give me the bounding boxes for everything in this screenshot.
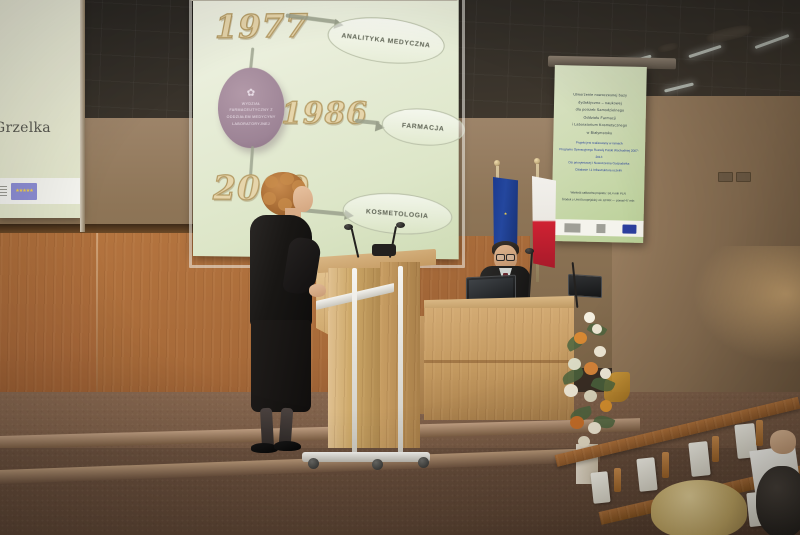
right-slide-logo-bar <box>553 219 647 237</box>
wall-outlet-1 <box>718 172 733 182</box>
wall-light-glow <box>690 246 800 366</box>
institution-logo-icon <box>565 223 581 232</box>
wall-outlet-2 <box>736 172 751 182</box>
flag-finial-poland-icon <box>534 158 540 164</box>
podium-rail-vertical-2 <box>398 266 403 454</box>
right-slide-title-line-6: w Białymstoku <box>558 129 640 138</box>
right-slide-foot-line-2: Środek z Unii Europejskiej: ok. EFRR — p… <box>557 196 639 205</box>
podium-microphone-head-1-icon <box>344 224 353 230</box>
poland-flag <box>532 176 556 268</box>
partner-logo-icon <box>597 223 606 232</box>
glasses-left-icon <box>496 254 505 261</box>
podium-microphone-head-2-icon <box>396 222 405 228</box>
glasses-right-icon <box>506 254 515 261</box>
eu-funds-logo-icon <box>622 224 636 233</box>
right-slide-title: Utworzenie nowoczesnej bazy dydaktyczno … <box>558 91 641 138</box>
speaker-skirt <box>251 320 311 412</box>
podium-caster-left <box>308 458 319 469</box>
floral-arrangement <box>560 312 618 452</box>
projection-screen-left: Grzelka ★★★★★ <box>0 0 80 218</box>
desk-front-panel <box>424 308 574 420</box>
podium-caster-right <box>418 457 429 468</box>
main-screen-frame <box>189 0 465 268</box>
audience-head-dark <box>756 466 800 535</box>
seat-post-4 <box>614 468 621 492</box>
seat-post-2 <box>712 436 719 462</box>
main-screen-roller <box>190 0 458 1</box>
seat-post-3 <box>662 452 669 478</box>
seat-folded-4[interactable] <box>590 471 610 504</box>
seat-post-1 <box>756 420 763 446</box>
audience-hand <box>770 430 796 454</box>
right-slide-footer: Wartość całkowita projektu: 56,4 mln PLN… <box>557 189 639 205</box>
microphone-base-block <box>372 244 396 256</box>
right-slide-subtitle: Projekt jest realizowany w ramach Progra… <box>558 139 641 175</box>
eu-stars-label: ★★★★★ <box>11 183 37 200</box>
lecture-hall-photo: Grzelka ★★★★★ 1977 ANALITYKA MEDYCZNA ✿ … <box>0 0 800 535</box>
left-screen-edge <box>80 0 85 232</box>
seat-folded-3[interactable] <box>636 457 657 492</box>
eu-flag-stars-icon: ★ <box>499 207 512 220</box>
podium-base <box>302 452 430 462</box>
audience-head-blonde <box>651 480 747 535</box>
speaker-hand <box>309 284 326 297</box>
left-slide-name-text: Grzelka <box>0 120 78 136</box>
flag-finial-eu-icon <box>494 160 500 166</box>
podium-rail-vertical <box>352 268 357 454</box>
speaker-shoe-right <box>274 441 301 451</box>
left-slide-logo-text <box>0 186 7 197</box>
left-slide-logo-bar: ★★★★★ <box>0 178 84 204</box>
desk-trim-line <box>424 360 574 363</box>
projection-screen-right: Utworzenie nowoczesnej bazy dydaktyczno … <box>551 65 647 243</box>
podium-caster-mid <box>372 459 383 470</box>
eu-flag-icon: ★★★★★ <box>11 183 37 200</box>
desk-microphone-head-icon <box>525 248 534 254</box>
seat-folded-2[interactable] <box>688 441 710 477</box>
